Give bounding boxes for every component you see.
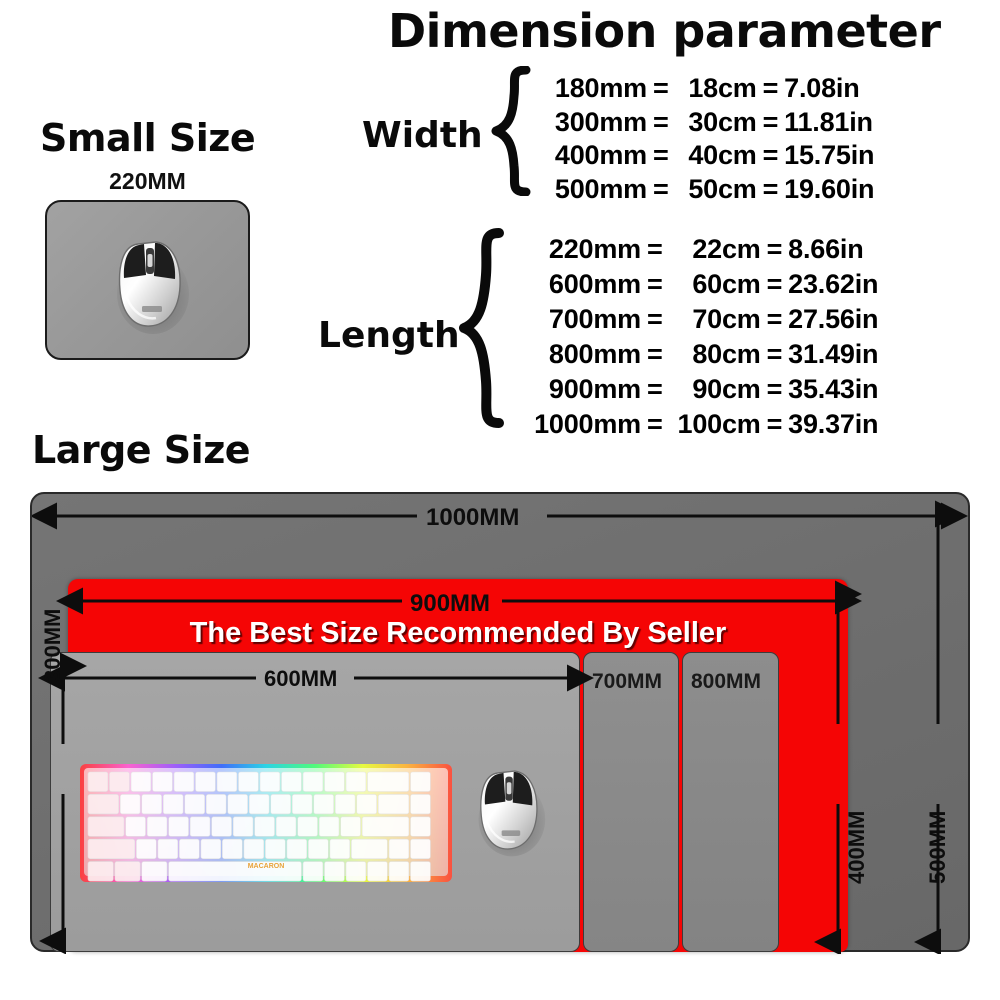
dimension-row: 300mm=30cm=11.81in bbox=[543, 106, 874, 140]
value-mm: 300mm bbox=[543, 106, 647, 140]
measure-1000mm-label: 1000MM bbox=[426, 504, 519, 532]
equals-sign: = bbox=[761, 409, 789, 439]
equals-sign: = bbox=[641, 409, 669, 439]
equals-sign: = bbox=[647, 174, 675, 204]
value-cm: 90cm bbox=[669, 372, 761, 407]
width-brace-icon bbox=[486, 66, 532, 201]
equals-sign: = bbox=[757, 140, 785, 170]
value-in: 19.60in bbox=[784, 174, 874, 204]
dimension-row: 700mm=70cm=27.56in bbox=[523, 302, 878, 337]
dimension-row: 500mm=50cm=19.60in bbox=[543, 173, 874, 207]
value-cm: 70cm bbox=[669, 302, 761, 337]
measure-400mm-label: 400MM bbox=[844, 811, 870, 884]
large-mousepad: The Best Size Recommended By Seller 700M… bbox=[30, 492, 970, 952]
value-mm: 800mm bbox=[523, 337, 641, 372]
dimension-row: 800mm=80cm=31.49in bbox=[523, 337, 878, 372]
value-cm: 30cm bbox=[675, 106, 757, 140]
value-cm: 100cm bbox=[669, 407, 761, 442]
equals-sign: = bbox=[641, 269, 669, 299]
length-dimension-list: 220mm=22cm=8.66in 600mm=60cm=23.62in 700… bbox=[523, 232, 878, 442]
mouse-graphic bbox=[110, 234, 192, 334]
equals-sign: = bbox=[761, 269, 789, 299]
value-cm: 18cm bbox=[675, 72, 757, 106]
equals-sign: = bbox=[761, 339, 789, 369]
value-in: 27.56in bbox=[788, 304, 878, 334]
equals-sign: = bbox=[647, 107, 675, 137]
equals-sign: = bbox=[761, 304, 789, 334]
value-mm: 900mm bbox=[523, 372, 641, 407]
panel-700mm bbox=[583, 652, 679, 952]
value-in: 39.37in bbox=[788, 409, 878, 439]
equals-sign: = bbox=[757, 174, 785, 204]
equals-sign: = bbox=[761, 234, 789, 264]
value-mm: 220mm bbox=[523, 232, 641, 267]
infographic-page: Dimension parameter Width 180mm=18cm=7.0… bbox=[0, 0, 1000, 1000]
measure-500mm-label: 500MM bbox=[925, 811, 951, 884]
value-mm: 500mm bbox=[543, 173, 647, 207]
measure-900mm-label: 900MM bbox=[410, 590, 490, 618]
value-in: 8.66in bbox=[788, 234, 863, 264]
value-mm: 400mm bbox=[543, 139, 647, 173]
value-in: 23.62in bbox=[788, 269, 878, 299]
keyboard-graphic: MACARON bbox=[80, 764, 452, 887]
recommended-text: The Best Size Recommended By Seller bbox=[68, 617, 848, 650]
value-mm: 700mm bbox=[523, 302, 641, 337]
dimension-row: 220mm=22cm=8.66in bbox=[523, 232, 878, 267]
equals-sign: = bbox=[647, 140, 675, 170]
small-mousepad bbox=[45, 200, 250, 360]
equals-sign: = bbox=[757, 107, 785, 137]
equals-sign: = bbox=[641, 304, 669, 334]
value-in: 11.81in bbox=[784, 107, 873, 137]
small-size-heading: Small Size bbox=[40, 116, 255, 160]
page-title: Dimension parameter bbox=[388, 4, 941, 58]
equals-sign: = bbox=[641, 374, 669, 404]
value-mm: 180mm bbox=[543, 72, 647, 106]
panel-800mm-label: 800MM bbox=[691, 670, 761, 694]
equals-sign: = bbox=[641, 234, 669, 264]
panel-800mm bbox=[682, 652, 779, 952]
value-cm: 50cm bbox=[675, 173, 757, 207]
equals-sign: = bbox=[761, 374, 789, 404]
dimension-row: 400mm=40cm=15.75in bbox=[543, 139, 874, 173]
width-group-label: Width bbox=[362, 115, 483, 156]
measure-600mm-label: 600MM bbox=[264, 666, 337, 692]
large-size-heading: Large Size bbox=[32, 428, 250, 472]
value-in: 15.75in bbox=[784, 140, 874, 170]
value-in: 31.49in bbox=[788, 339, 878, 369]
dimension-row: 1000mm=100cm=39.37in bbox=[523, 407, 878, 442]
dimension-row: 600mm=60cm=23.62in bbox=[523, 267, 878, 302]
value-cm: 40cm bbox=[675, 139, 757, 173]
value-in: 7.08in bbox=[784, 73, 859, 103]
equals-sign: = bbox=[757, 73, 785, 103]
length-group-label: Length bbox=[318, 315, 460, 356]
dimension-row: 900mm=90cm=35.43in bbox=[523, 372, 878, 407]
value-cm: 80cm bbox=[669, 337, 761, 372]
mouse-graphic-large bbox=[472, 762, 548, 858]
value-cm: 22cm bbox=[669, 232, 761, 267]
value-in: 35.43in bbox=[788, 374, 878, 404]
dimension-row: 180mm=18cm=7.08in bbox=[543, 72, 874, 106]
panel-700mm-label: 700MM bbox=[592, 670, 662, 694]
small-pad-width-label: 220MM bbox=[45, 168, 250, 195]
svg-text:MACARON: MACARON bbox=[248, 863, 285, 870]
length-brace-icon bbox=[455, 228, 507, 433]
value-mm: 1000mm bbox=[523, 407, 641, 442]
value-mm: 600mm bbox=[523, 267, 641, 302]
width-dimension-list: 180mm=18cm=7.08in 300mm=30cm=11.81in 400… bbox=[543, 72, 874, 206]
equals-sign: = bbox=[647, 73, 675, 103]
value-cm: 60cm bbox=[669, 267, 761, 302]
measure-300mm-label: 300MM bbox=[40, 609, 66, 682]
equals-sign: = bbox=[641, 339, 669, 369]
